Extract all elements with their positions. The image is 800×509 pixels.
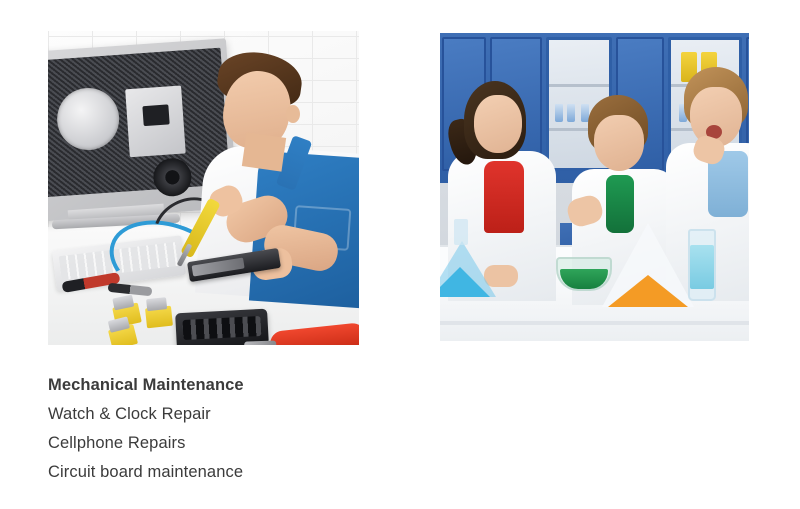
left-column: Mechanical Maintenance Watch & Clock Rep… bbox=[0, 0, 400, 509]
shelf-1a bbox=[549, 84, 609, 87]
laboratory-scene bbox=[440, 33, 749, 341]
boy1-face bbox=[594, 115, 644, 171]
bit-holder-2 bbox=[145, 306, 173, 329]
left-line-1: Mechanical Maintenance bbox=[48, 371, 378, 400]
blue-flask-neck bbox=[454, 219, 468, 245]
tool-tray bbox=[175, 309, 269, 345]
left-line-3: Cellphone Repairs bbox=[48, 429, 378, 458]
repair-scene bbox=[48, 31, 359, 345]
bench-edge bbox=[440, 321, 749, 325]
feature-page: Mechanical Maintenance Watch & Clock Rep… bbox=[0, 0, 800, 509]
blue-liquid bbox=[440, 267, 490, 297]
lab-bottle bbox=[567, 104, 575, 122]
chip-module bbox=[142, 104, 169, 126]
bit-holder-3 bbox=[108, 324, 138, 345]
mechanical-maintenance-photo bbox=[48, 31, 359, 345]
cyan-liquid bbox=[690, 245, 714, 289]
girl-face bbox=[474, 95, 522, 153]
technician-ear bbox=[286, 105, 300, 123]
lab-bottle bbox=[555, 104, 563, 122]
girl-red-shirt bbox=[484, 161, 524, 233]
right-column: Teaching Tools Experimental examination … bbox=[400, 0, 800, 509]
technician-neck bbox=[242, 132, 286, 171]
mechanical-maintenance-text: Mechanical Maintenance Watch & Clock Rep… bbox=[48, 371, 378, 487]
left-line-2: Watch & Clock Repair bbox=[48, 400, 378, 429]
orange-liquid bbox=[608, 275, 688, 307]
left-line-4: Circuit board maintenance bbox=[48, 458, 378, 487]
teaching-tools-photo bbox=[440, 33, 749, 341]
